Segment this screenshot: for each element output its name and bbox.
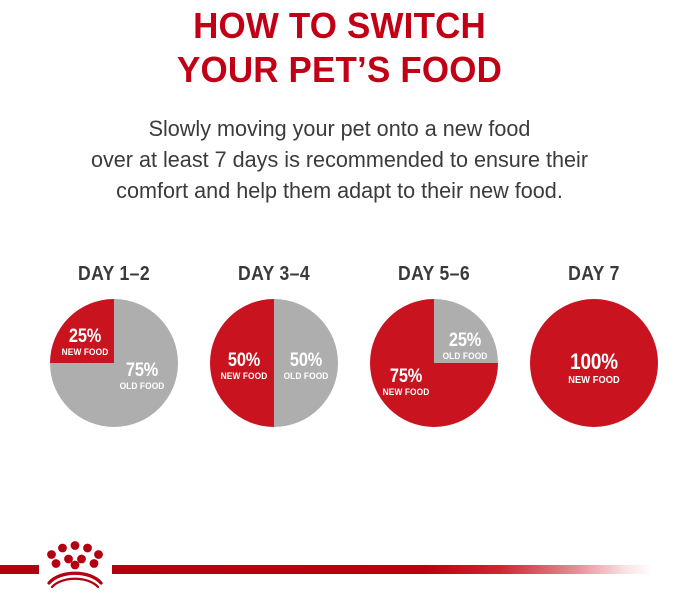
pie-svg-day-1-2 — [50, 299, 178, 427]
pie-chart-day-3-4: DAY 3–4 50% NEW FOOD 50% OLD FOOD — [189, 262, 359, 442]
intro-line-1: Slowly moving your pet onto a new food — [14, 113, 666, 144]
pie-label-day-3-4: DAY 3–4 — [199, 262, 349, 286]
footer-bar-right — [112, 565, 652, 574]
page-title-line-1: HOW TO SWITCH — [10, 4, 669, 48]
footer-bar-left — [0, 565, 39, 574]
pie-label-day-1-2: DAY 1–2 — [39, 262, 189, 286]
intro-paragraph: Slowly moving your pet onto a new food o… — [0, 113, 679, 206]
pie-graphic-day-7: 100% NEW FOOD — [530, 299, 658, 427]
pie-slice-new-food — [210, 299, 274, 427]
pie-slice-new-food — [50, 299, 114, 363]
pie-chart-day-5-6: DAY 5–6 25% OLD FOOD 75% NEW FOOD — [349, 262, 519, 442]
page-title-line-2: YOUR PET’S FOOD — [10, 48, 669, 92]
pie-label-day-5-6: DAY 5–6 — [359, 262, 509, 286]
pie-slice-old-food — [434, 299, 498, 363]
pie-slice-old-food — [274, 299, 338, 427]
pie-chart-day-1-2: DAY 1–2 25% NEW FOOD 75% OLD FOOD — [29, 262, 199, 442]
intro-line-2: over at least 7 days is recommended to e… — [14, 144, 666, 175]
crown-icon — [44, 540, 106, 590]
pie-slice-new-food — [530, 299, 658, 427]
page-title: HOW TO SWITCH YOUR PET’S FOOD — [0, 4, 679, 92]
pie-svg-day-5-6 — [370, 299, 498, 427]
pie-graphic-day-3-4: 50% NEW FOOD 50% OLD FOOD — [210, 299, 338, 427]
pie-graphic-day-1-2: 25% NEW FOOD 75% OLD FOOD — [50, 299, 178, 427]
footer — [0, 532, 679, 594]
crown-logo — [44, 540, 106, 590]
pie-chart-day-7: DAY 7 100% NEW FOOD — [509, 262, 679, 442]
pie-label-day-7: DAY 7 — [519, 262, 669, 286]
pie-svg-day-3-4 — [210, 299, 338, 427]
intro-line-3: comfort and help them adapt to their new… — [14, 175, 666, 206]
pie-graphic-day-5-6: 25% OLD FOOD 75% NEW FOOD — [370, 299, 498, 427]
pie-svg-day-7 — [530, 299, 658, 427]
pie-chart-row: DAY 1–2 25% NEW FOOD 75% OLD FOOD DAY 3–… — [0, 262, 679, 442]
